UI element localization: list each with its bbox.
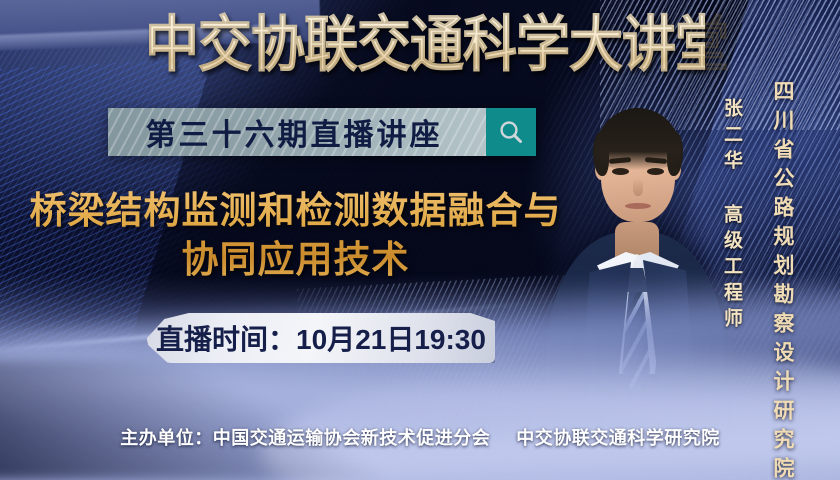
organizer-primary: 主办单位：中国交通运输协会新技术促进分会 — [120, 428, 490, 448]
portrait-mouth — [625, 203, 651, 209]
broadcast-time-badge: 直播时间：10月21日19:30 — [147, 313, 495, 363]
topic-title: 桥梁结构监测和检测数据融合与协同应用技术 — [28, 186, 563, 284]
webinar-poster: 中交协联交通科学大讲堂 第三十六期直播讲座 桥梁结构监测和检测数据融合与协同应用… — [0, 0, 840, 480]
speaker-organization: 四川省公路规划勘察设计研究院有限公司 — [772, 80, 793, 480]
search-input-value: 第三十六期直播讲座 — [146, 110, 449, 154]
silk-dark-corner — [0, 360, 380, 480]
search-input[interactable]: 第三十六期直播讲座 — [108, 108, 486, 156]
speaker-name-title: 张二华 高级工程师 — [722, 98, 741, 334]
page-title: 中交协联交通科学大讲堂 — [145, 8, 705, 82]
portrait-nose — [633, 178, 643, 196]
broadcast-time-text: 直播时间：10月21日19:30 — [156, 318, 486, 358]
organizer-secondary: 中交协联交通科学研究院 — [516, 428, 720, 448]
portrait-eye-right — [647, 168, 664, 175]
search-button[interactable] — [486, 108, 536, 156]
portrait-eye-left — [612, 168, 629, 175]
organizer-footer: 主办单位：中国交通运输协会新技术促进分会中交协联交通科学研究院 — [0, 424, 840, 450]
search-icon — [498, 119, 524, 145]
search-bar[interactable]: 第三十六期直播讲座 — [108, 108, 536, 156]
